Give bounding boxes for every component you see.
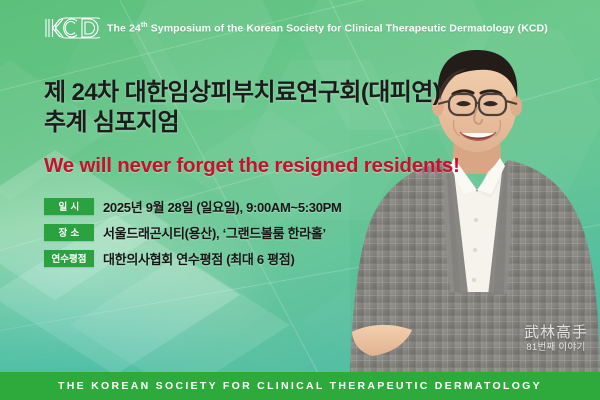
watermark-sub-text: 81번째 이야기 bbox=[524, 343, 588, 354]
info-row-date: 일 시 2025년 9월 28일 (일요일), 9:00AM~5:30PM bbox=[44, 197, 474, 216]
info-row-credits: 연수평점 대한의사협회 연수평점 (최대 6 평점) bbox=[44, 249, 474, 268]
poster-footer: THE KOREAN SOCIETY FOR CLINICAL THERAPEU… bbox=[0, 372, 600, 400]
info-value-date: 2025년 9월 28일 (일요일), 9:00AM~5:30PM bbox=[103, 197, 342, 216]
info-badge-date: 일 시 bbox=[44, 198, 94, 215]
header-title-after: Symposium of the Korean Society for Clin… bbox=[148, 22, 548, 34]
page-title: 제 24차 대한임상피부치료연구회(대피연) 추계 심포지엄 bbox=[44, 78, 474, 138]
info-list: 일 시 2025년 9월 28일 (일요일), 9:00AM~5:30PM 장 … bbox=[44, 197, 474, 268]
header-title-ordinal: th bbox=[141, 22, 148, 29]
watermark-main-text: 武林高手 bbox=[524, 324, 588, 341]
watermark: 武林高手 81번째 이야기 bbox=[524, 324, 588, 354]
info-badge-credits: 연수평점 bbox=[44, 250, 94, 267]
title-line-1: 제 24차 대한임상피부치료연구회(대피연) bbox=[44, 79, 440, 106]
poster-header: The 24th Symposium of the Korean Society… bbox=[0, 0, 600, 56]
info-badge-venue: 장 소 bbox=[44, 224, 94, 241]
header-title: The 24th Symposium of the Korean Society… bbox=[107, 22, 548, 35]
title-line-2: 추계 심포지엄 bbox=[44, 108, 474, 138]
symposium-poster: The 24th Symposium of the Korean Society… bbox=[0, 0, 600, 400]
info-value-credits: 대한의사협회 연수평점 (최대 6 평점) bbox=[103, 249, 294, 268]
poster-main-content: 제 24차 대한임상피부치료연구회(대피연) 추계 심포지엄 We will n… bbox=[44, 78, 474, 268]
tagline: We will never forget the resigned reside… bbox=[44, 154, 474, 178]
kcd-logo-icon bbox=[44, 17, 100, 39]
info-value-venue: 서울드래곤시티(용산), ‘그랜드볼룸 한라홀’ bbox=[103, 223, 326, 242]
info-row-venue: 장 소 서울드래곤시티(용산), ‘그랜드볼룸 한라홀’ bbox=[44, 223, 474, 242]
footer-text: THE KOREAN SOCIETY FOR CLINICAL THERAPEU… bbox=[58, 380, 542, 392]
header-title-before: The 24 bbox=[107, 22, 141, 34]
